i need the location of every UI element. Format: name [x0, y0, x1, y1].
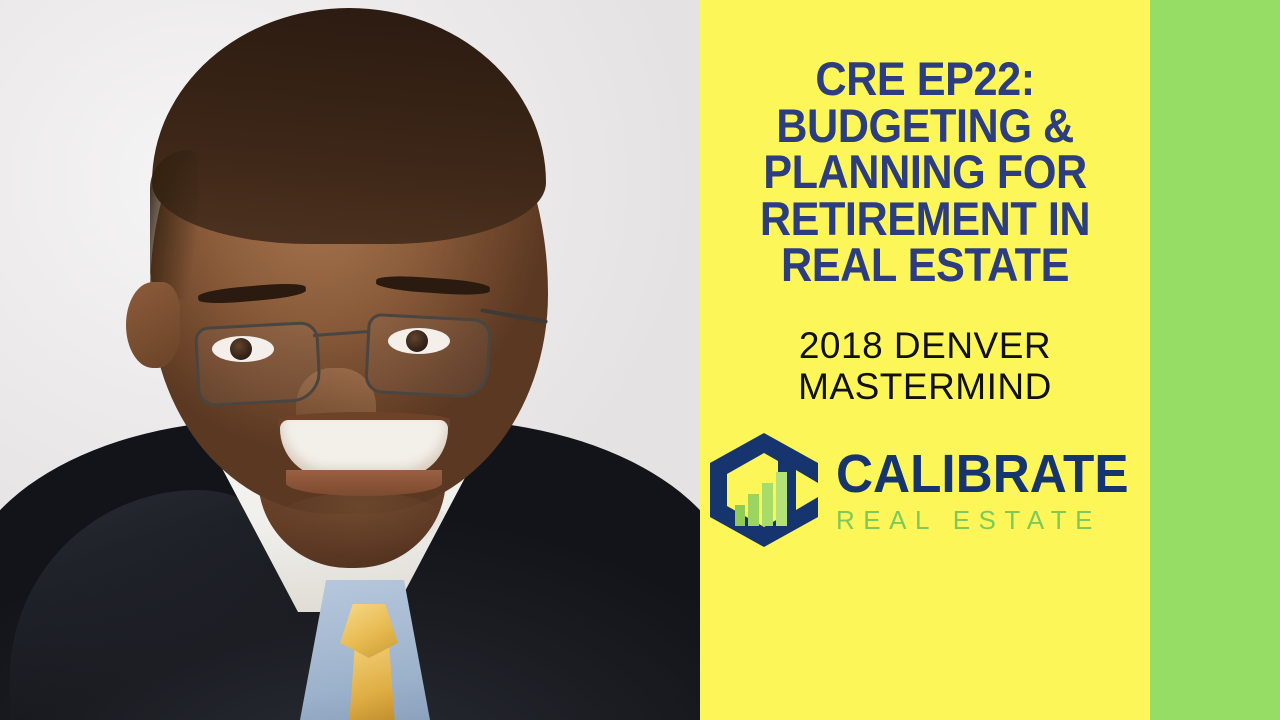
- subtitle-line-1: 2018 DENVER: [700, 325, 1150, 366]
- title-panel: CRE EP22: BUDGETING & PLANNING FOR RETIR…: [700, 0, 1150, 720]
- video-thumbnail: CRE EP22: BUDGETING & PLANNING FOR RETIR…: [0, 0, 1280, 720]
- eyeglasses: [150, 296, 550, 406]
- host-portrait: [0, 0, 700, 720]
- green-accent-stripe: [1150, 0, 1280, 720]
- title-line-4: RETIREMENT IN: [725, 196, 1124, 243]
- title-line-1: CRE EP22:: [725, 56, 1124, 103]
- logo-wordmark: CALIBRATE REAL ESTATE: [836, 447, 1144, 533]
- logo-tagline: REAL ESTATE: [836, 507, 1144, 533]
- episode-title: CRE EP22: BUDGETING & PLANNING FOR RETIR…: [700, 56, 1150, 289]
- chin: [272, 492, 450, 556]
- title-line-5: REAL ESTATE: [725, 242, 1124, 289]
- subtitle-line-2: MASTERMIND: [700, 366, 1150, 407]
- calibrate-real-estate-logo: CALIBRATE REAL ESTATE: [706, 431, 1144, 549]
- logo-brand-name: CALIBRATE: [836, 447, 1129, 501]
- lens-right: [364, 313, 492, 399]
- host-photo-panel: [0, 0, 700, 720]
- calibrate-hexagon-c-icon: [706, 431, 822, 549]
- sideburn: [150, 150, 198, 300]
- episode-subtitle: 2018 DENVER MASTERMIND: [700, 325, 1150, 408]
- title-line-2: BUDGETING &: [725, 103, 1124, 150]
- title-line-3: PLANNING FOR: [725, 149, 1124, 196]
- lens-left: [194, 321, 322, 407]
- hair: [152, 8, 546, 244]
- glasses-temple: [480, 308, 548, 324]
- glasses-bridge: [313, 330, 369, 337]
